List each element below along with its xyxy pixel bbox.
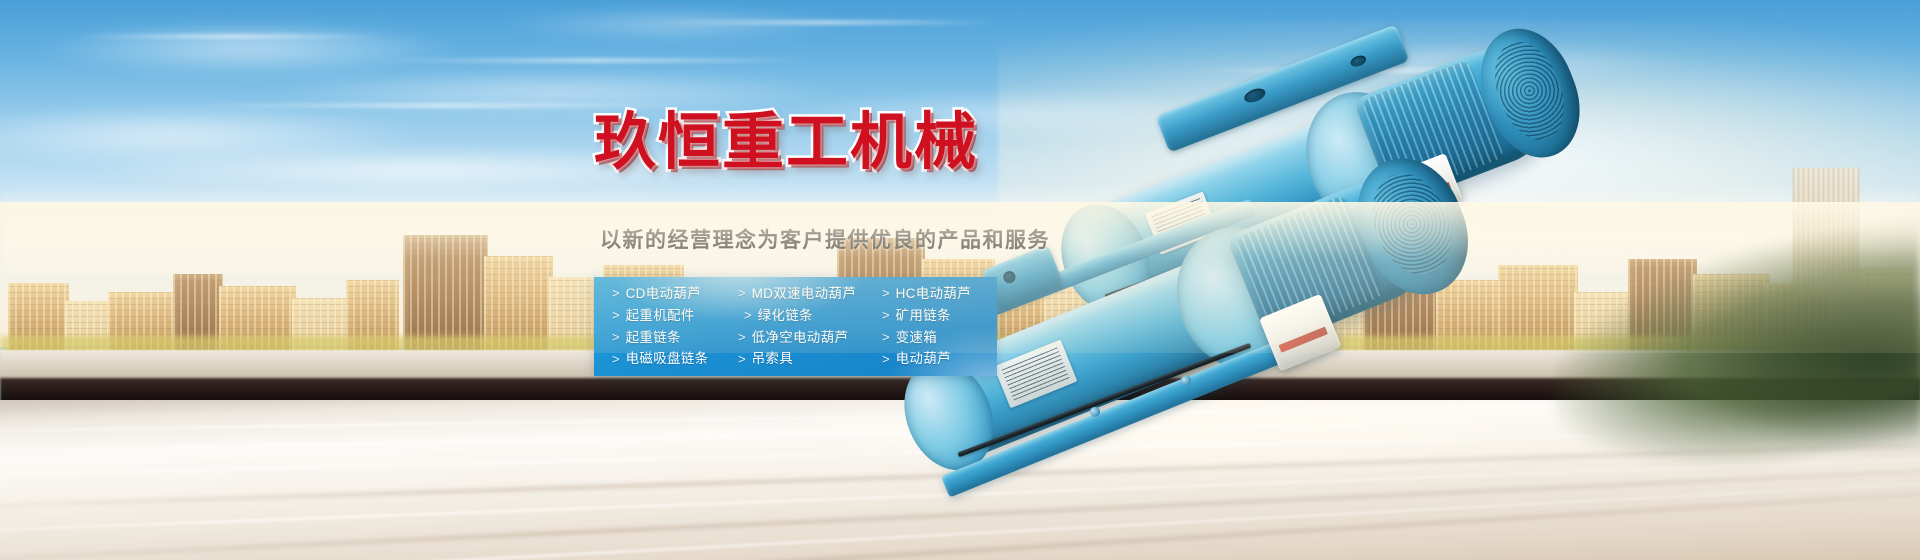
product-list-panel: > CD电动葫芦 > 起重机配件 > 起重链条 > 电磁吸盘链条 > MD双速电… (594, 277, 997, 376)
product-link-low-headroom-hoist[interactable]: > 低净空电动葫芦 (738, 331, 882, 345)
product-link-md-hoist[interactable]: > MD双速电动葫芦 (738, 287, 882, 301)
banner-subtitle: 以新的经营理念为客户提供优良的产品和服务 (600, 224, 1050, 254)
product-link-electric-hoist[interactable]: > 电动葫芦 (882, 352, 997, 366)
product-link-lifting-chain[interactable]: > 起重链条 (612, 331, 738, 345)
chevron-right-icon: > (738, 352, 746, 365)
banner-copy: 玖恒重工机械 以新的经营理念为客户提供优良的产品和服务 > CD电动葫芦 > 起… (0, 0, 1920, 560)
chevron-right-icon: > (882, 287, 890, 300)
product-label: 变速箱 (896, 331, 937, 345)
product-link-slings[interactable]: > 吊索具 (738, 352, 882, 366)
chevron-right-icon: > (744, 309, 752, 322)
promo-banner: 玖恒重工机械 以新的经营理念为客户提供优良的产品和服务 > CD电动葫芦 > 起… (0, 0, 1920, 560)
product-label: MD双速电动葫芦 (752, 287, 856, 301)
page-title: 玖恒重工机械 (594, 112, 978, 174)
chevron-right-icon: > (738, 330, 746, 343)
product-label: 电动葫芦 (896, 352, 951, 366)
chevron-right-icon: > (612, 330, 620, 343)
product-link-crane-parts[interactable]: > 起重机配件 (612, 309, 738, 323)
product-link-mining-chain[interactable]: > 矿用链条 (882, 309, 997, 323)
product-link-magnet-chain[interactable]: > 电磁吸盘链条 (612, 352, 738, 366)
product-label: 低净空电动葫芦 (752, 331, 849, 345)
product-label: HC电动葫芦 (896, 287, 971, 301)
product-label: 绿化链条 (758, 309, 813, 323)
chevron-right-icon: > (882, 330, 890, 343)
product-link-cd-hoist[interactable]: > CD电动葫芦 (612, 287, 738, 301)
chevron-right-icon: > (612, 352, 620, 365)
product-label: CD电动葫芦 (626, 287, 701, 301)
product-label: 吊索具 (752, 352, 793, 366)
chevron-right-icon: > (738, 287, 746, 300)
product-link-hc-hoist[interactable]: > HC电动葫芦 (882, 287, 997, 301)
product-link-green-chain[interactable]: > 绿化链条 (738, 309, 882, 323)
product-link-gearbox[interactable]: > 变速箱 (882, 331, 997, 345)
product-label: 起重链条 (626, 331, 681, 345)
chevron-right-icon: > (882, 352, 890, 365)
product-label: 矿用链条 (896, 309, 951, 323)
chevron-right-icon: > (882, 309, 890, 322)
product-label: 电磁吸盘链条 (626, 352, 709, 366)
product-label: 起重机配件 (626, 309, 695, 323)
chevron-right-icon: > (612, 309, 620, 322)
chevron-right-icon: > (612, 287, 620, 300)
